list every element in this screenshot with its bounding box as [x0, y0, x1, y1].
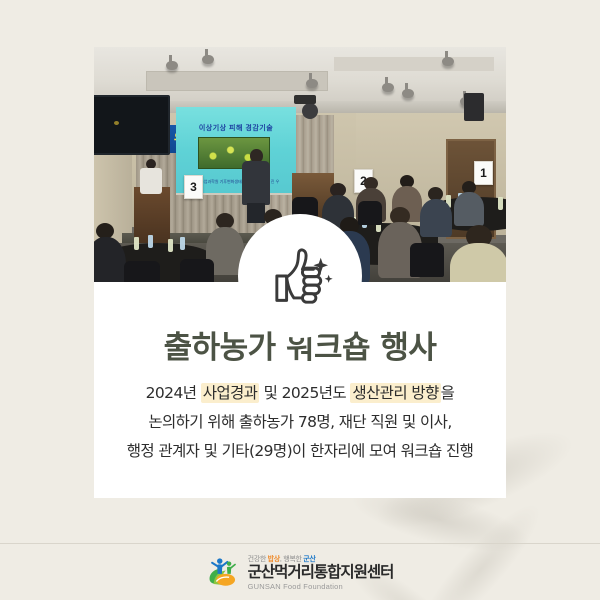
spotlight-icon	[166, 61, 178, 70]
text-run: 및 2025년도	[259, 384, 350, 402]
sparkle-icon	[313, 258, 332, 283]
description-line: 2024년 사업경과 및 2025년도 생산관리 방향을	[94, 379, 506, 408]
logo-tagline-run: 건강한	[248, 556, 268, 563]
highlighted-phrase: 사업경과	[201, 383, 260, 403]
ceiling-vent	[146, 71, 328, 91]
poster-canvas: 5기 워크 이상기상 피해 경감기술 국립농업과학원 기후변화생태과 농업연구관…	[0, 0, 600, 600]
thumbs-up-icon	[261, 237, 339, 315]
table-number-card: 3	[184, 175, 203, 199]
spotlight-icon	[402, 89, 414, 98]
photo-person-mc	[140, 159, 162, 193]
gunsan-logo-icon	[207, 556, 241, 590]
photo-monitor	[94, 95, 170, 155]
spotlight-icon	[202, 55, 214, 64]
footer-divider	[0, 543, 600, 544]
spotlight-icon	[442, 57, 454, 66]
logo-name: 군산먹거리통합지원센터	[248, 565, 394, 581]
photo-person-presenter	[242, 149, 270, 221]
ceiling-panel	[334, 57, 494, 71]
description-line: 행정 관계자 및 기타(29명)이 한자리에 모여 워크숍 진행	[94, 437, 506, 466]
pa-speaker-icon	[464, 93, 484, 121]
projector-icon	[294, 95, 316, 104]
logo-tagline-run: 밥상	[268, 556, 280, 563]
spotlight-icon	[382, 83, 394, 92]
description-line: 논의하기 위해 출하농가 78명, 재단 직원 및 이사,	[94, 408, 506, 437]
table-number-card: 1	[474, 161, 493, 185]
text-run: 행정 관계자 및 기타(29명)이 한자리에 모여 워크숍 진행	[127, 442, 474, 460]
spotlight-icon	[306, 79, 318, 88]
highlighted-phrase: 생산관리 방향	[350, 383, 440, 403]
text-run: 을	[441, 384, 455, 402]
text-run: 논의하기 위해 출하농가 78명, 재단 직원 및 이사,	[148, 413, 451, 431]
description-text: 2024년 사업경과 및 2025년도 생산관리 방향을논의하기 위해 출하농가…	[94, 379, 506, 466]
logo-subtitle: GUNSAN Food Foundation	[248, 583, 394, 591]
logo-tagline-run: , 행복한	[280, 556, 303, 563]
thumbs-up-badge	[238, 214, 362, 338]
logo-tagline-run: 군산	[303, 556, 315, 563]
text-run: 2024년	[146, 384, 201, 402]
footer: 건강한 밥상, 행복한 군산 군산먹거리통합지원센터 GUNSAN Food F…	[0, 546, 600, 600]
pa-speaker-icon	[302, 103, 318, 119]
slide-title: 이상기상 피해 경감기술	[176, 123, 296, 133]
logo-tagline: 건강한 밥상, 행복한 군산	[248, 556, 394, 563]
